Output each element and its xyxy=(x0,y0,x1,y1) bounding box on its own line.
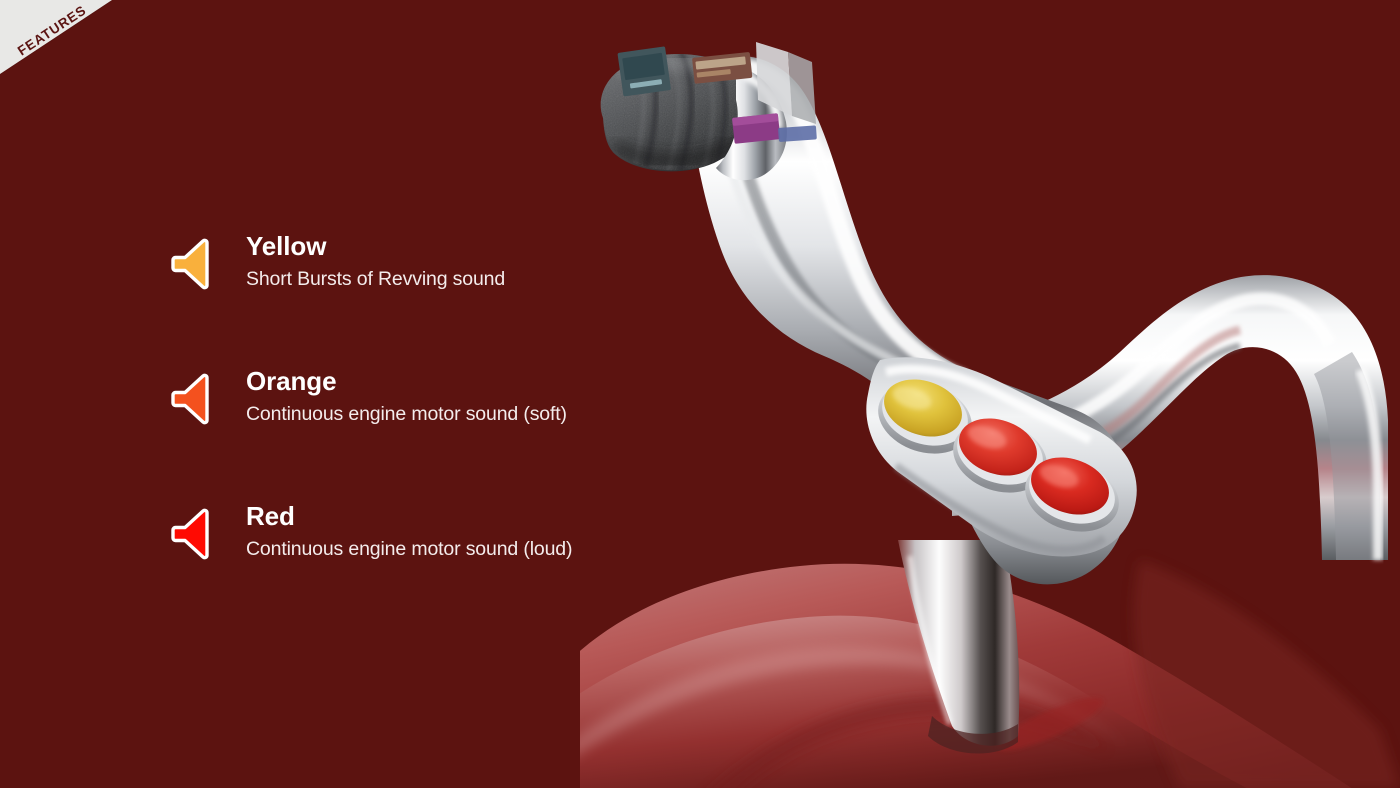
corner-ribbon-triangle xyxy=(0,0,112,74)
feature-item-yellow: Yellow Short Bursts of Revving sound xyxy=(168,232,688,332)
feature-text-block: Orange Continuous engine motor sound (so… xyxy=(246,367,567,427)
feature-description: Short Bursts of Revving sound xyxy=(246,268,505,291)
feature-item-red: Red Continuous engine motor sound (loud) xyxy=(168,502,688,602)
product-render-image xyxy=(580,0,1400,788)
button-red[interactable] xyxy=(1016,448,1128,543)
slide-canvas: Yellow Short Bursts of Revving sound Ora… xyxy=(0,0,1400,788)
render-svg xyxy=(580,0,1400,788)
handlebar-stem xyxy=(898,540,1019,753)
feature-title: Red xyxy=(246,502,572,531)
feature-list: Yellow Short Bursts of Revving sound Ora… xyxy=(168,232,688,602)
button-plate xyxy=(866,357,1136,556)
feature-item-orange: Orange Continuous engine motor sound (so… xyxy=(168,367,688,467)
feature-description: Continuous engine motor sound (soft) xyxy=(246,403,567,426)
feature-title: Yellow xyxy=(246,232,505,261)
feature-text-block: Red Continuous engine motor sound (loud) xyxy=(246,502,572,562)
button-yellow[interactable] xyxy=(869,370,981,465)
handlebar-right-arm xyxy=(952,275,1388,560)
feature-text-block: Yellow Short Bursts of Revving sound xyxy=(246,232,505,292)
body-decals xyxy=(617,42,816,144)
speaker-icon xyxy=(170,506,226,562)
feature-title: Orange xyxy=(246,367,567,396)
speaker-icon-glyph xyxy=(170,236,226,292)
corner-ribbon: FEATURES xyxy=(0,0,112,74)
handlebar-main-arm xyxy=(688,56,1128,585)
vehicle-body-panel xyxy=(580,560,1400,788)
speaker-icon xyxy=(170,371,226,427)
speaker-icon-glyph xyxy=(170,506,226,562)
handlebar-grip xyxy=(580,40,787,190)
feature-description: Continuous engine motor sound (loud) xyxy=(246,538,572,561)
speaker-icon-glyph xyxy=(170,371,226,427)
speaker-icon xyxy=(170,236,226,292)
button-orange-red[interactable] xyxy=(944,409,1056,504)
